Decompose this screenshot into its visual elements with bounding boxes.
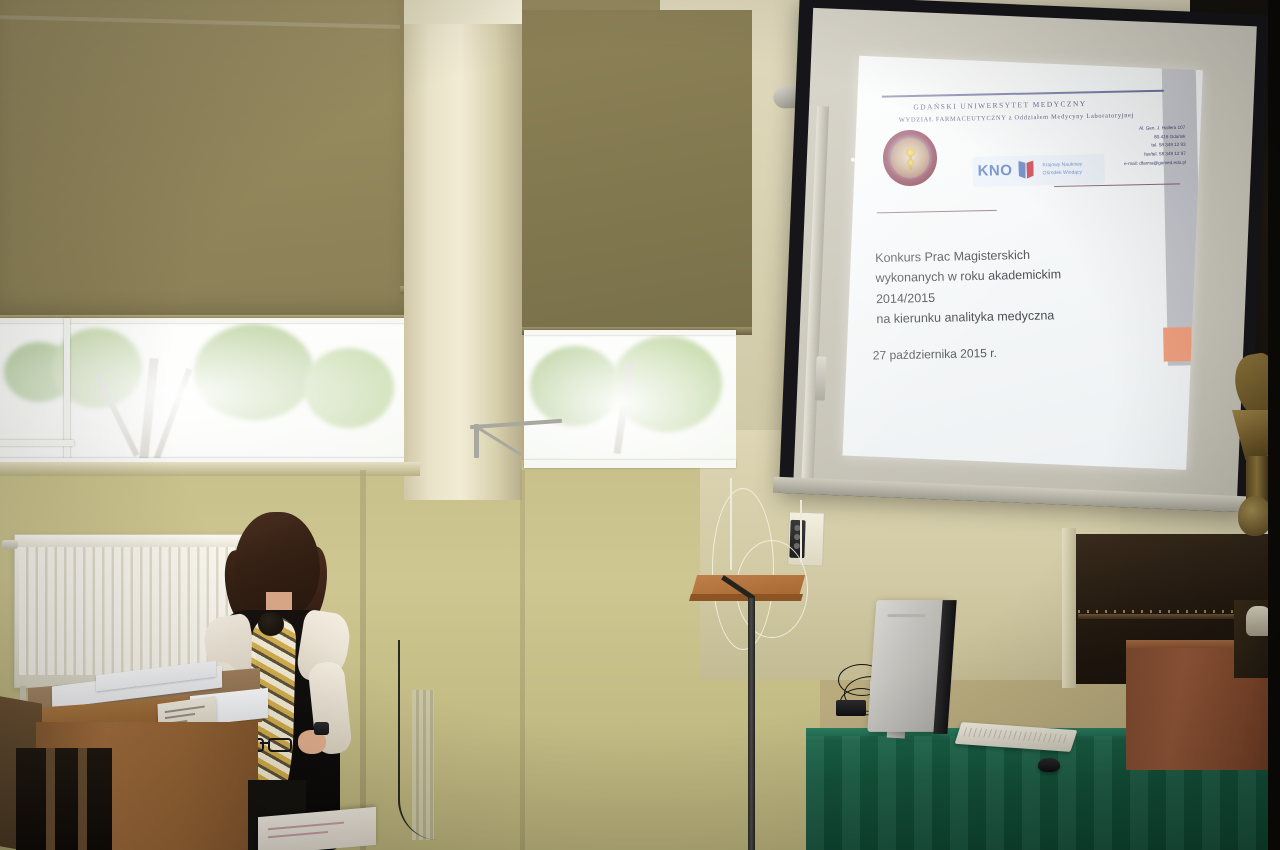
cabinet-frame: [1062, 528, 1076, 688]
projection-screen-assembly: GDAŃSKI UNIWERSYTET MEDYCZNY WYDZIAŁ FAR…: [747, 0, 1280, 549]
projected-slide: GDAŃSKI UNIWERSYTET MEDYCZNY WYDZIAŁ FAR…: [842, 56, 1202, 470]
scarf-knot: [258, 612, 284, 636]
crest-emblem-upper: [905, 148, 914, 157]
lectern-stand-pole: [748, 598, 755, 850]
screen-black-border: GDAŃSKI UNIWERSYTET MEDYCZNY WYDZIAŁ FAR…: [779, 0, 1269, 512]
lecture-hall-photo: GDAŃSKI UNIWERSYTET MEDYCZNY WYDZIAŁ FAR…: [0, 0, 1280, 850]
podium-opening: [16, 748, 112, 850]
wall-cable-vertical: [730, 478, 732, 570]
crest-emblem-lower: [907, 159, 914, 166]
know-wordmark: KNO: [977, 162, 1012, 180]
slide-university-name: GDAŃSKI UNIWERSYTET MEDYCZNY: [913, 97, 1183, 112]
know-book-icon: [1018, 160, 1034, 178]
wall-seam-right: [520, 470, 525, 850]
wristwatch: [314, 722, 329, 735]
slide-header-rule: [882, 90, 1164, 97]
wall-seam-left: [360, 470, 366, 850]
monitor-vent-slot: [887, 614, 925, 617]
slide-date: 27 października 2015 r.: [873, 346, 997, 363]
window-frame-top: [0, 318, 406, 323]
window-sill-right: [524, 460, 736, 468]
radiator-valve[interactable]: [2, 540, 18, 549]
slide-body-text: Konkurs Prac Magisterskich wykonanych w …: [875, 242, 1177, 329]
screen-control-strip[interactable]: [815, 356, 827, 400]
slide-faculty-name: WYDZIAŁ FARMACEUTYCZNY z Oddziałem Medyc…: [899, 111, 1199, 124]
gumed-crest-icon: [882, 129, 937, 186]
wall-cable-down: [800, 500, 802, 562]
slide-accent-block: [1163, 327, 1192, 362]
window-rail: [0, 440, 74, 446]
right-edge-shadow: [1268, 0, 1280, 850]
wall-wainscot: [0, 462, 420, 476]
roller-blind-right: [522, 10, 752, 335]
know-logo: KNO Krajowy Naukowy Ośrodek Wiodący: [972, 154, 1105, 187]
crest-inner-field: [891, 138, 930, 179]
pillar-capital: [404, 0, 522, 24]
know-subtitle: Krajowy Naukowy Ośrodek Wiodący: [1042, 161, 1082, 177]
window-frame-top-right: [524, 330, 736, 335]
know-sub-line1: Krajowy Naukowy: [1042, 161, 1082, 168]
know-sub-line2: Ośrodek Wiodący: [1043, 169, 1083, 176]
power-adapter-1: [836, 700, 866, 716]
statue-lower-form: [1238, 496, 1272, 536]
floor-cable: [398, 640, 440, 840]
window-bracket: [470, 418, 566, 458]
roller-blind-left: [0, 0, 410, 324]
slide-rule-low: [877, 210, 997, 214]
blind-fold: [0, 15, 410, 29]
computer-mouse[interactable]: [1038, 758, 1060, 772]
